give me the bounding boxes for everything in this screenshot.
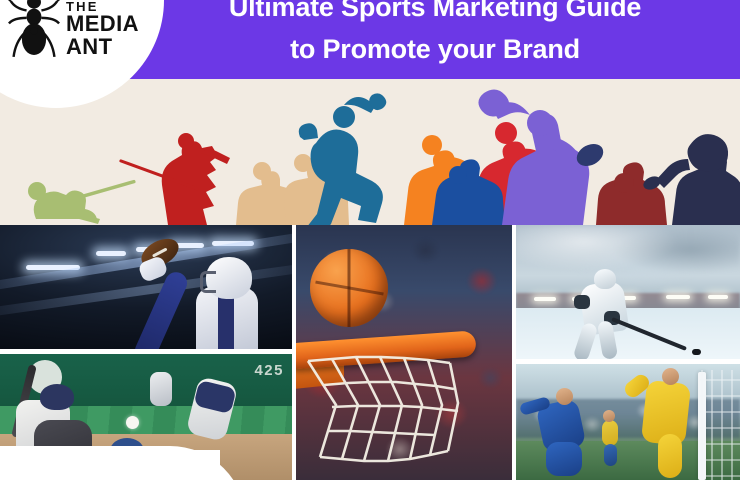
ice-hockey-photo[interactable] <box>516 225 740 359</box>
brand-line-media: MEDIA <box>66 13 139 35</box>
soccer-photo[interactable] <box>516 364 740 480</box>
page-title: Ultimate Sports Marketing Guide to Promo… <box>150 0 720 70</box>
brand-logo[interactable]: THE MEDIA ANT <box>6 0 156 72</box>
american-football-photo[interactable] <box>0 225 292 349</box>
brand-wordmark: THE MEDIA ANT <box>66 0 139 58</box>
swimmer-silhouette <box>596 162 667 225</box>
rower-silhouette <box>28 180 136 224</box>
sports-marketing-poster: 425 <box>0 0 740 480</box>
bottom-card-fill <box>0 450 220 480</box>
outfield-distance-marker: 425 <box>254 362 284 379</box>
cyclist-silhouette <box>119 133 230 225</box>
basketball-photo[interactable] <box>296 225 512 480</box>
sports-photo-grid: 425 <box>0 225 740 480</box>
sports-silhouette-band <box>0 79 740 225</box>
ant-icon <box>6 0 62 68</box>
brand-line-ant: ANT <box>66 36 139 58</box>
